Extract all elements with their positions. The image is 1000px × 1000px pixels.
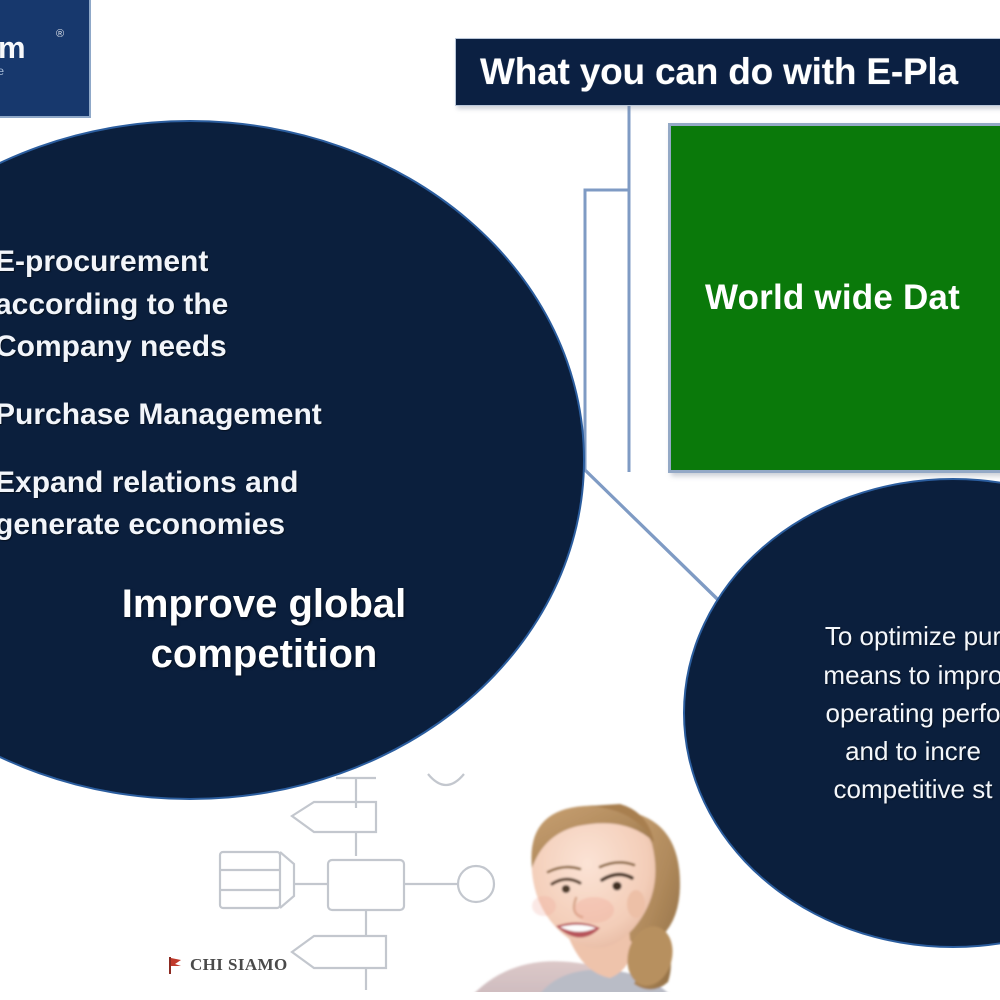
benefit-line: Company needs bbox=[0, 326, 559, 369]
world-wide-database-panel: World wide Dat bbox=[668, 123, 1000, 473]
benefit-line: Expand relations and bbox=[0, 462, 559, 505]
flag-icon bbox=[168, 957, 182, 974]
footer-strip bbox=[0, 992, 1000, 1000]
registered-trademark-icon: ® bbox=[56, 28, 64, 40]
benefit-line: Purchase Management bbox=[0, 394, 559, 437]
slide-title-banner: What you can do with E-Pla bbox=[455, 38, 1000, 106]
logo-wordmark: orm bbox=[0, 30, 25, 66]
logo-tagline: hoice bbox=[0, 64, 6, 78]
benefit-headline: Improve global competition bbox=[0, 579, 559, 679]
optimize-line: operating perfo bbox=[763, 694, 1000, 732]
nav-item-chi-siamo[interactable]: CHI SIAMO bbox=[168, 955, 288, 975]
green-panel-label: World wide Dat bbox=[671, 278, 960, 318]
person-photo bbox=[470, 780, 770, 1000]
benefit-line: according to the bbox=[0, 284, 559, 327]
spacer bbox=[0, 437, 559, 462]
spacer bbox=[0, 369, 559, 394]
hero-photo-composition bbox=[0, 760, 1000, 1000]
benefits-circle: E-procurement according to the Company n… bbox=[0, 120, 585, 800]
company-logo[interactable]: orm ® hoice bbox=[0, 0, 91, 118]
benefit-line: E-procurement bbox=[0, 241, 559, 284]
nav-item-label: CHI SIAMO bbox=[190, 955, 288, 975]
benefit-line: generate economies bbox=[0, 504, 559, 547]
page-title: What you can do with E-Pla bbox=[456, 51, 958, 93]
optimize-line: To optimize pur bbox=[763, 617, 1000, 655]
slide-canvas: orm ® hoice What you can do with E-Pla W… bbox=[0, 0, 1000, 1000]
optimize-line: means to impro bbox=[763, 656, 1000, 694]
